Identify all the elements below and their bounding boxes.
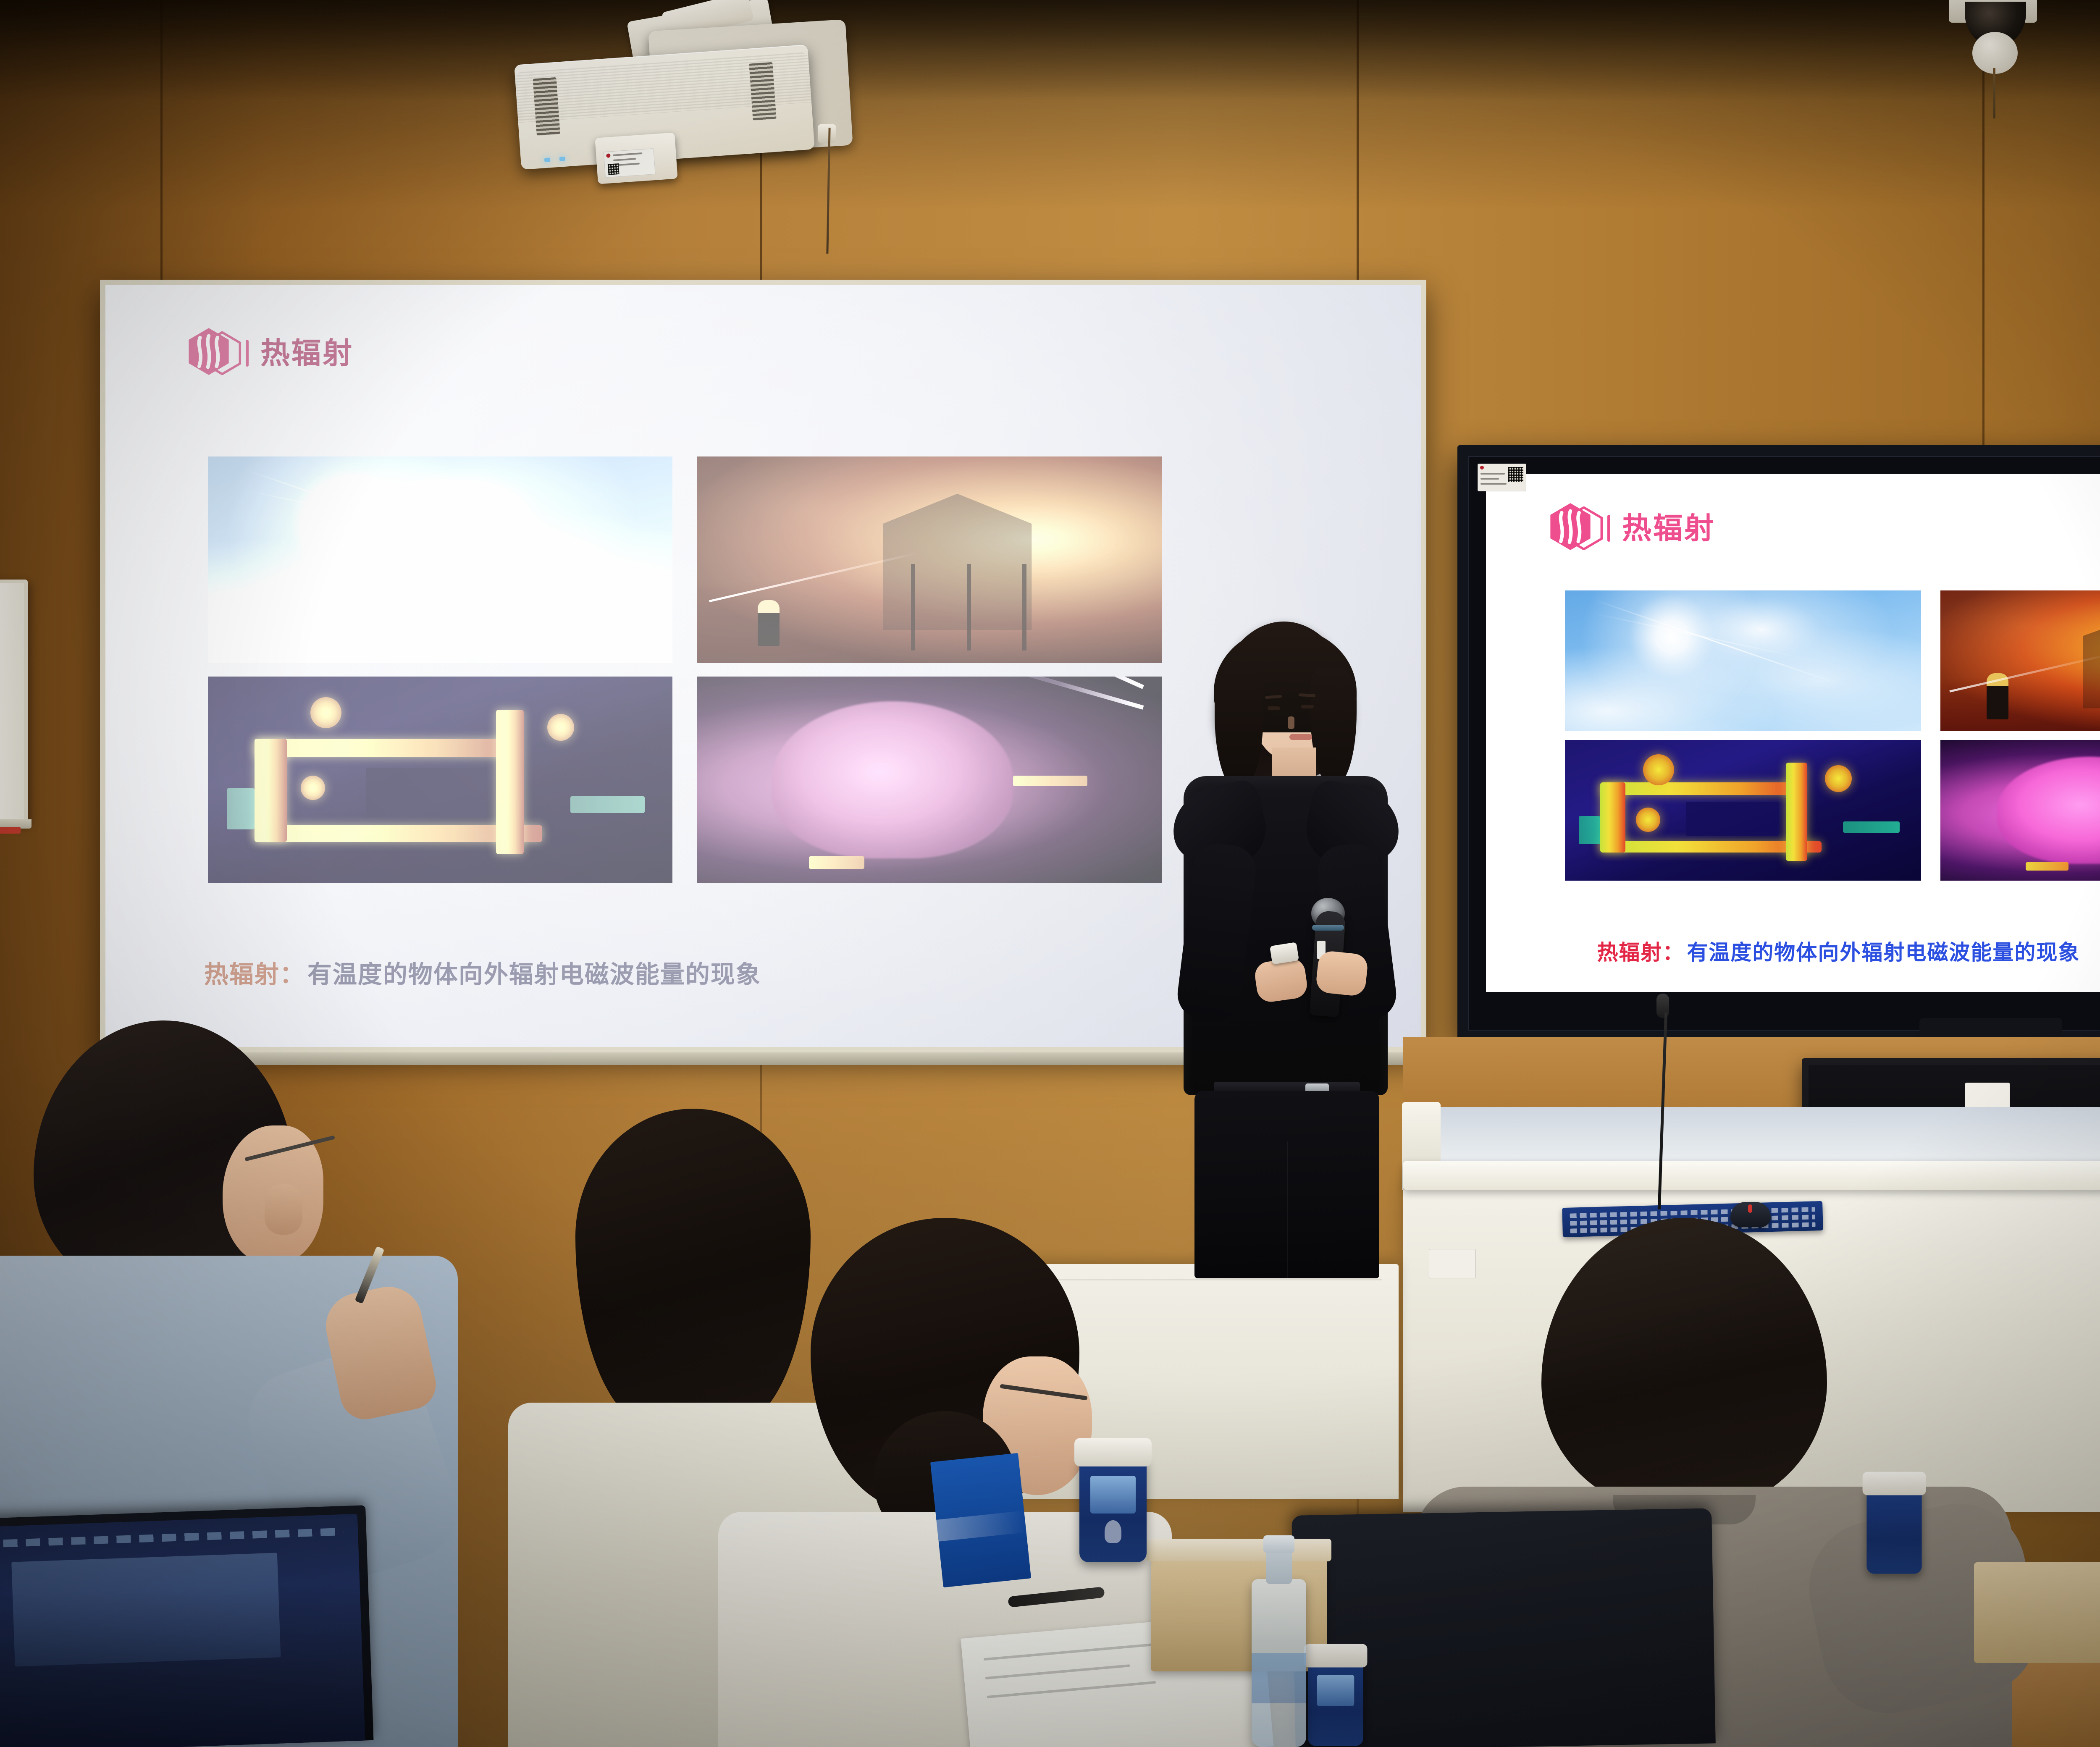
presenter-eye: [1301, 705, 1314, 708]
projector-mount-screw: [818, 124, 836, 143]
asset-tag-line: [1480, 483, 1507, 485]
mouse-scroll-wheel[interactable]: [1748, 1204, 1752, 1213]
thermal-machine-image: [697, 677, 1162, 883]
building-post: [911, 564, 915, 651]
sun-through-clouds-photo: [1565, 590, 1921, 731]
slide-image-grid: [208, 456, 1162, 883]
slide-header: 热辐射: [1549, 502, 1715, 554]
projector-vent: [533, 77, 560, 136]
thermal-pipe: [255, 739, 287, 842]
notepad-line: [987, 1681, 1156, 1698]
sun-ray: [1593, 599, 1843, 686]
notepad-line: [985, 1664, 1130, 1679]
hexagon-solid-icon: [187, 327, 231, 376]
sun-ray: [1593, 613, 1803, 658]
thermal-hot-body: [1997, 757, 2100, 863]
ceiling-projector: [496, 2, 865, 170]
thermal-valve: [547, 714, 574, 741]
bottle-neck: [1266, 1550, 1292, 1584]
takeout-box: [1974, 1562, 2100, 1663]
table-name-card: [930, 1453, 1031, 1587]
thermal-pipe: [1600, 782, 1625, 853]
building-fire-photo: [697, 456, 1162, 663]
display-asset-tag: [1478, 464, 1526, 491]
bottle-cap: [1263, 1535, 1294, 1553]
cup-lid: [1863, 1472, 1926, 1495]
coffee-cup: [1308, 1660, 1363, 1746]
slide-caption: 热辐射：有温度的物体向外辐射电磁波能量的现象: [1597, 936, 2080, 966]
projector-vent: [749, 62, 776, 121]
cup-lid: [1074, 1438, 1152, 1466]
asset-tag-line: [1480, 473, 1505, 475]
camera-cable: [1993, 68, 1995, 118]
display-panel: 热辐射: [1486, 474, 2100, 992]
dome-security-camera: [1932, 0, 2054, 77]
asset-tag-seal-icon: [1480, 466, 1484, 470]
slide-header: 热辐射: [187, 327, 354, 379]
thermal-hotspot: [1013, 776, 1087, 786]
bottle-label: [1252, 1653, 1306, 1703]
slide-title-divider: [246, 340, 249, 367]
qr-code-icon: [1508, 467, 1523, 482]
thermal-valve: [310, 697, 341, 728]
presenter-eye: [1268, 706, 1280, 710]
thermal-machine-image: [1940, 740, 2100, 880]
slide-title: 热辐射: [260, 338, 354, 368]
slide-on-display: 热辐射: [1486, 474, 2100, 992]
camera-ball-joint: [1972, 32, 2018, 74]
water-bottle: [1252, 1579, 1306, 1747]
laptop-window: [11, 1553, 281, 1666]
presenter: [1151, 622, 1420, 1277]
thermal-valve: [1636, 808, 1660, 832]
building-fire-photo: [1940, 590, 2100, 731]
projector-led-indicator: [559, 157, 566, 161]
slide-caption-key: 热辐射：: [204, 961, 305, 988]
slide-title: 热辐射: [1622, 514, 1715, 543]
thermal-hotspot: [2026, 862, 2068, 871]
thermal-valve: [1643, 754, 1674, 785]
ceiling-shadow: [0, 0, 2100, 101]
cup-logo: [1090, 1476, 1136, 1514]
asset-tag-line: [613, 158, 636, 161]
slide-image-grid: [1565, 590, 2100, 881]
laptop[interactable]: [0, 1505, 373, 1747]
thermal-warm-region: [1579, 816, 1600, 844]
thermal-warm-region: [1843, 821, 1900, 833]
thermal-pipes-image: [208, 677, 672, 883]
cup-logo: [1317, 1675, 1354, 1706]
thermal-pipe: [1600, 782, 1800, 795]
thermal-hotspot: [809, 856, 865, 869]
laptop-window-tabs: [3, 1528, 343, 1547]
presenter-trousers: [1194, 1091, 1379, 1278]
wall-led-display[interactable]: 热辐射: [1457, 445, 2100, 1041]
slide-caption-body: 有温度的物体向外辐射电磁波能量的现象: [1687, 941, 2080, 964]
slide-caption-body: 有温度的物体向外辐射电磁波能量的现象: [307, 961, 761, 988]
firefighter-figure: [758, 600, 780, 646]
thermal-cool-region: [366, 768, 487, 817]
notepad-line: [984, 1642, 1171, 1661]
asset-tag-line: [1480, 478, 1499, 480]
microphone-ring: [1312, 925, 1344, 931]
thermal-cool-region: [1686, 802, 1779, 835]
classroom-presentation-scene: 热辐射: [0, 0, 2100, 1747]
thermal-pipe: [255, 739, 514, 757]
attendee-ear: [265, 1184, 302, 1235]
cup-deer-icon: [1105, 1520, 1121, 1543]
asset-tag-line: [613, 152, 642, 156]
sun-ray: [245, 490, 518, 549]
slide-caption: 热辐射：有温度的物体向外辐射电磁波能量的现象: [204, 955, 761, 990]
thermal-valve: [1825, 765, 1852, 792]
building-post: [967, 564, 971, 651]
coffee-cup: [1866, 1488, 1921, 1574]
projector-led-indicator: [544, 157, 551, 162]
qr-code-icon: [608, 163, 619, 175]
thermal-warm-region: [227, 788, 255, 829]
presenter-nose: [1288, 716, 1294, 729]
thermal-pipe: [1786, 763, 1807, 861]
laptop-screen: [0, 1514, 365, 1747]
name-card-highlight: [936, 1511, 1026, 1542]
sun-through-clouds-photo: [208, 456, 672, 663]
hexagon-solid-icon: [1549, 502, 1592, 551]
cup-lid: [1304, 1644, 1368, 1668]
thermal-pipe: [496, 710, 524, 854]
slide-title-divider: [1607, 515, 1610, 542]
heat-wave-hexagon-logo-icon: [1549, 502, 1596, 554]
presenter-mouth: [1289, 734, 1312, 740]
building-post: [1022, 564, 1026, 651]
thermal-warm-region: [570, 796, 645, 813]
presenter-hand: [1315, 950, 1369, 997]
thermal-jet-streak: [973, 677, 1144, 710]
whiteboard-red-marker: [0, 827, 21, 834]
water-jet: [1949, 653, 2100, 693]
heat-wave-hexagon-logo-icon: [187, 327, 234, 379]
lectern-worktop: [1403, 1161, 2100, 1190]
thermal-valve: [301, 776, 325, 800]
slide-caption-key: 热辐射：: [1597, 941, 1684, 964]
projector-asset-tag: [604, 148, 656, 178]
thermal-pipes-image: [1565, 740, 1921, 880]
thermal-hot-body: [772, 701, 1013, 858]
takeout-box-lid: [1147, 1539, 1331, 1561]
coffee-cup: [1079, 1457, 1147, 1562]
whiteboard-left: [0, 580, 28, 823]
asset-tag-seal-icon: [606, 153, 611, 158]
projector-lens-housing: [595, 133, 677, 184]
attendee-head: [1541, 1218, 1827, 1512]
